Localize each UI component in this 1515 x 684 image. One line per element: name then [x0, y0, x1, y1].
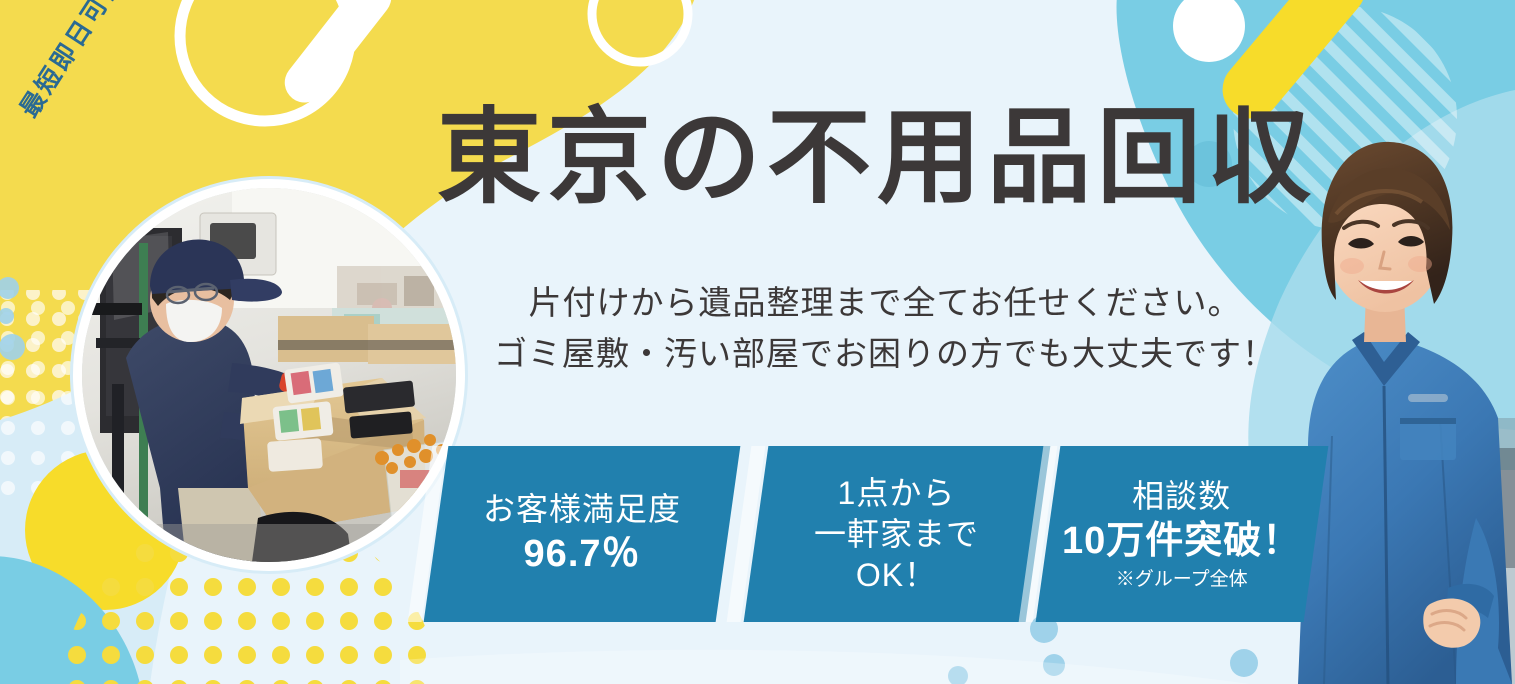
hero-banner: 最短即日可能！	[0, 0, 1515, 684]
subtitle-line-1: 片付けから遺品整理まで全てお任せください。	[460, 277, 1310, 328]
badge-scope[interactable]: 1点から 一軒家まで OK！	[744, 446, 1051, 622]
badge-consultations-note: ※グループ全体	[1062, 568, 1301, 592]
subtitle-line-2: ゴミ屋敷・汚い部屋でお困りの方でも大丈夫です！	[460, 328, 1310, 379]
badge-consultations-label: 相談数	[1062, 476, 1301, 517]
badge-scope-line-1: 1点から	[814, 473, 979, 514]
badge-satisfaction-value: 96.7％	[483, 530, 681, 579]
feature-badges: お客様満足度 96.7％ 1点から 一軒家まで OK！ 相談数 10万件突破！ …	[436, 446, 1316, 622]
badge-scope-line-3: OK！	[814, 554, 979, 595]
badge-satisfaction-label: お客様満足度	[483, 489, 681, 530]
badge-scope-line-2: 一軒家まで	[814, 514, 979, 555]
worker-photo-illustration	[82, 188, 456, 562]
badge-consultations-value: 10万件突破！	[1062, 517, 1301, 566]
badge-satisfaction[interactable]: お客様満足度 96.7％	[424, 446, 741, 622]
subtitle-block: 片付けから遺品整理まで全てお任せください。 ゴミ屋敷・汚い部屋でお困りの方でも大…	[460, 277, 1310, 379]
worker-photo-circle	[82, 188, 456, 562]
badge-consultations[interactable]: 相談数 10万件突破！ ※グループ全体	[1036, 446, 1329, 622]
page-title: 東京の不用品回収	[437, 104, 1347, 213]
